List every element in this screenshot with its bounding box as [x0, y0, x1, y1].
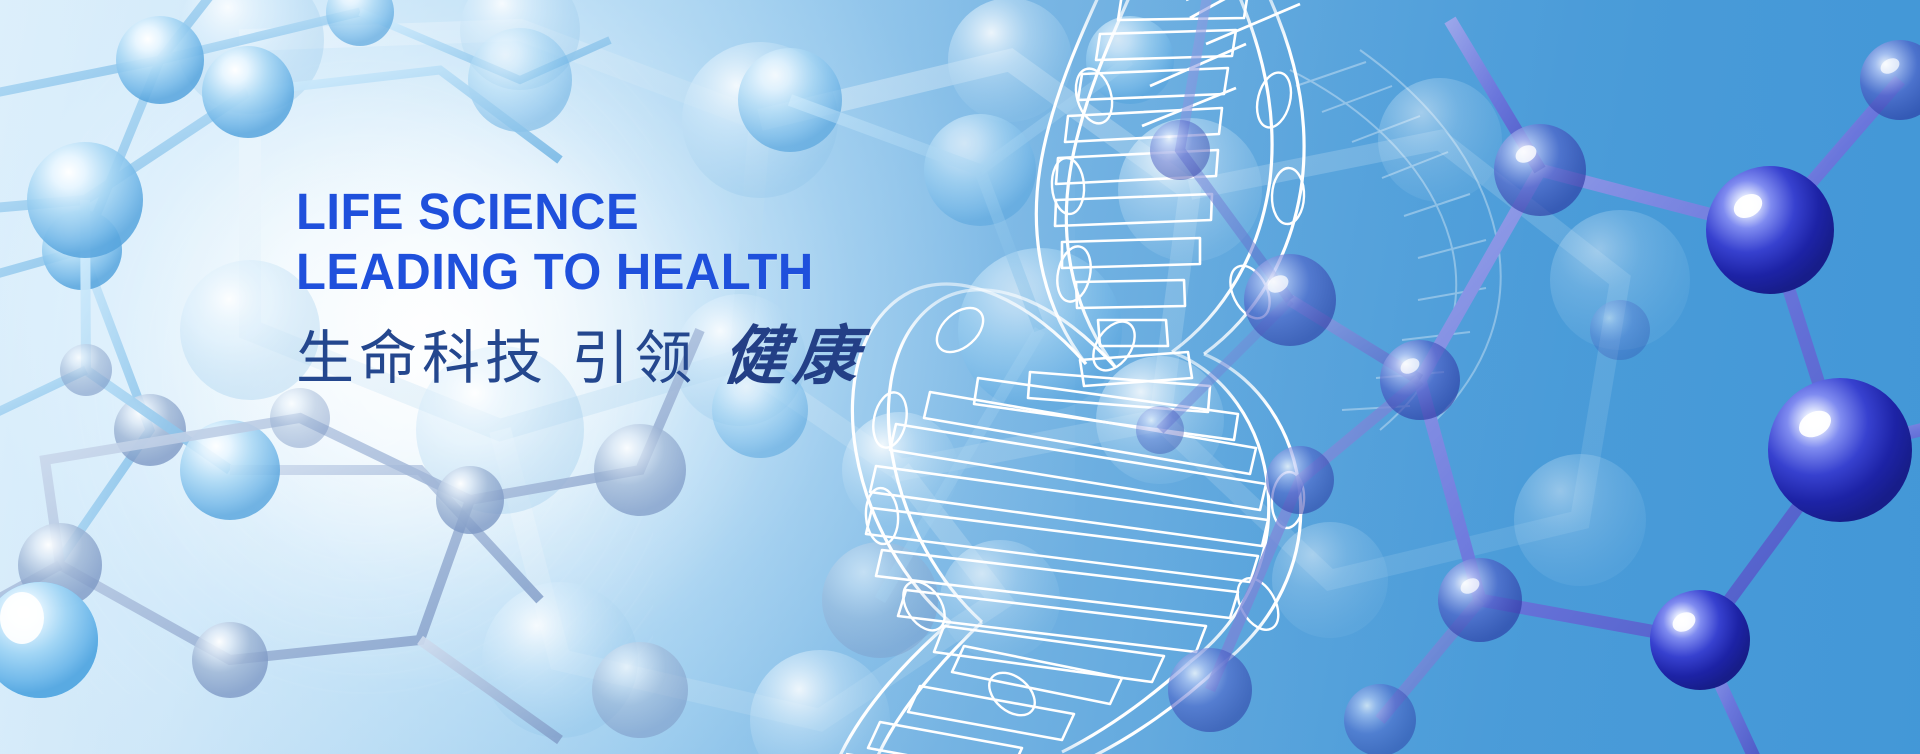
headline-cn-main: 生命科技 引领: [296, 325, 697, 391]
headline-block: LIFE SCIENCE LEADING TO HEALTH 生命科技 引领 健…: [296, 182, 1056, 391]
headline-en-line2: LEADING TO HEALTH: [296, 242, 1026, 302]
headline-en-line1: LIFE SCIENCE: [296, 182, 1026, 242]
headline-cn-row: 生命科技 引领 健康: [296, 324, 1056, 391]
life-science-banner: LIFE SCIENCE LEADING TO HEALTH 生命科技 引领 健…: [0, 0, 1920, 754]
headline-cn-accent: 健康: [720, 324, 869, 390]
bond-group-right: [1160, 0, 1920, 754]
